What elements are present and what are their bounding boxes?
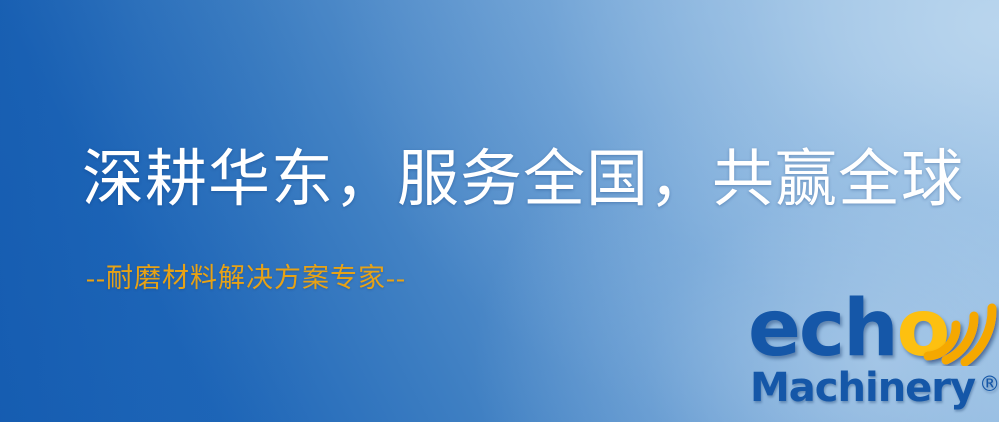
company-logo[interactable]: echo Machinery® <box>748 296 999 422</box>
logo-word-o: o <box>897 284 949 374</box>
logo-wordmark: echo <box>748 290 948 368</box>
logo-subtext-label: Machinery <box>750 365 975 411</box>
hero-banner: 深耕华东，服务全国，共赢全球 --耐磨材料解决方案专家-- echo Machi… <box>0 0 999 422</box>
logo-word-ech: ech <box>748 284 897 374</box>
logo-subtext: Machinery® <box>750 368 999 408</box>
registered-trademark-icon: ® <box>979 372 999 396</box>
banner-headline: 深耕华东，服务全国，共赢全球 <box>82 148 964 213</box>
banner-subtitle: --耐磨材料解决方案专家-- <box>86 264 406 294</box>
